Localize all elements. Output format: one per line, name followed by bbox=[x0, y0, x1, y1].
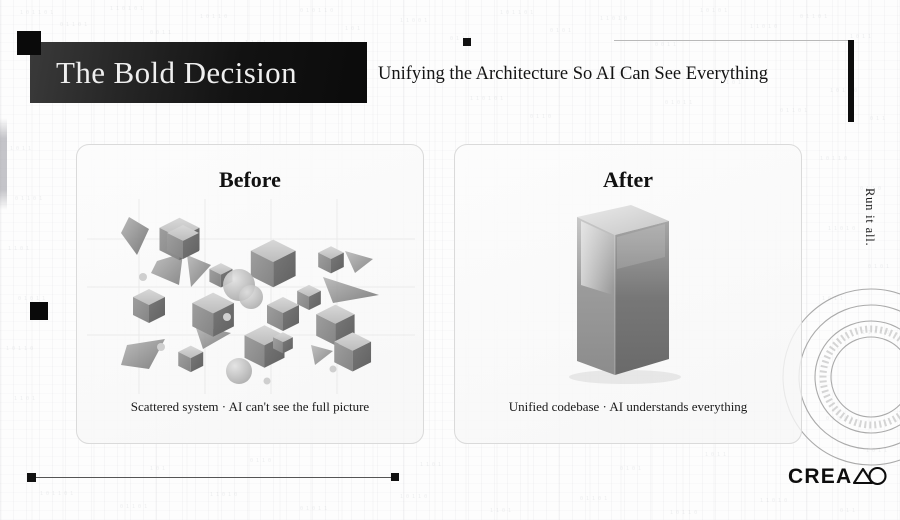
svg-text:0 1 1 0 1: 0 1 1 0 1 bbox=[780, 108, 807, 114]
svg-text:1 0 1 1 0: 1 0 1 1 0 bbox=[6, 346, 33, 352]
svg-text:1 0 1 1 0: 1 0 1 1 0 bbox=[400, 494, 427, 500]
unified-monolith-illustration bbox=[465, 199, 793, 394]
svg-text:0 1 0 1: 0 1 0 1 bbox=[620, 466, 641, 472]
svg-text:0 1 1 0: 0 1 1 0 bbox=[530, 114, 551, 120]
svg-text:1 0 1 1: 1 0 1 1 bbox=[10, 146, 31, 152]
panel-after-caption: Unified codebase · AI understands everyt… bbox=[455, 399, 801, 415]
svg-text:1 1 0 1 0: 1 1 0 1 0 bbox=[760, 498, 787, 504]
title-band: The Bold Decision bbox=[30, 42, 367, 103]
svg-text:0 1 0 1: 0 1 0 1 bbox=[550, 28, 571, 34]
brand-logo: CREA bbox=[788, 463, 889, 489]
page-subtitle: Unifying the Architecture So AI Can See … bbox=[378, 64, 768, 85]
svg-text:0 1 0 1 1: 0 1 0 1 1 bbox=[665, 100, 692, 106]
svg-text:0 1 0 1 1 0: 0 1 0 1 1 0 bbox=[300, 8, 333, 14]
svg-text:1 0 1 1 0: 1 0 1 1 0 bbox=[200, 14, 227, 20]
svg-text:1 1 0 1 0 1: 1 1 0 1 0 1 bbox=[110, 6, 143, 12]
svg-text:1 0 1 1 0 1: 1 0 1 1 0 1 bbox=[500, 10, 533, 16]
svg-text:1 1 0 1: 1 1 0 1 bbox=[14, 396, 35, 402]
svg-text:1 1 0 1 0 1: 1 1 0 1 0 1 bbox=[470, 96, 503, 102]
svg-text:1 1 0 1: 1 1 0 1 bbox=[490, 508, 511, 514]
svg-text:0 1 0 1: 0 1 0 1 bbox=[868, 264, 889, 270]
panel-before: Before bbox=[76, 144, 424, 444]
svg-text:1 0 1 1 0 1: 1 0 1 1 0 1 bbox=[40, 491, 73, 497]
decor-square-top-mid bbox=[463, 38, 471, 46]
svg-text:1 0 1: 1 0 1 bbox=[345, 26, 360, 32]
svg-text:1 0 1 1 0: 1 0 1 1 0 bbox=[670, 510, 697, 516]
svg-text:0 1 1 0: 0 1 1 0 bbox=[250, 458, 271, 464]
svg-text:1 0 1 1 0 1: 1 0 1 1 0 1 bbox=[20, 10, 53, 16]
page-title: The Bold Decision bbox=[30, 55, 297, 91]
panel-after-heading: After bbox=[455, 167, 801, 193]
svg-text:0 1 1: 0 1 1 bbox=[840, 508, 855, 514]
svg-text:1 1 0 1: 1 1 0 1 bbox=[420, 462, 441, 468]
svg-text:0 1 1 0 1: 0 1 1 0 1 bbox=[15, 196, 42, 202]
svg-text:1 0 1 1: 1 0 1 1 bbox=[866, 448, 887, 454]
side-note: Run it all. bbox=[862, 188, 877, 246]
svg-text:1 0 1 1 0: 1 0 1 1 0 bbox=[820, 156, 847, 162]
decor-bar-top-right bbox=[848, 40, 854, 122]
decor-line-bottom bbox=[30, 477, 396, 478]
svg-text:0 1 1 0 1: 0 1 1 0 1 bbox=[580, 496, 607, 502]
svg-text:0 1 0 1 1: 0 1 0 1 1 bbox=[300, 506, 327, 512]
svg-text:1 1 0 1 0: 1 1 0 1 0 bbox=[750, 24, 777, 30]
svg-text:1 1 0 1 0: 1 1 0 1 0 bbox=[862, 330, 889, 336]
decor-square-bottom-left bbox=[27, 473, 36, 482]
svg-text:1 1 0 1 0: 1 1 0 1 0 bbox=[600, 16, 627, 22]
svg-text:1 1 0 0 1: 1 1 0 0 1 bbox=[400, 18, 427, 24]
svg-text:0 0 1 1: 0 0 1 1 bbox=[150, 30, 171, 36]
brand-logo-text: CREA bbox=[788, 466, 852, 487]
svg-text:1 0 1 1: 1 0 1 1 bbox=[705, 452, 726, 458]
corner-marker-top-left bbox=[17, 31, 41, 55]
panel-before-heading: Before bbox=[77, 167, 423, 193]
decor-square-left bbox=[30, 302, 48, 320]
decor-square-bottom-right bbox=[391, 473, 399, 481]
svg-text:0 1 1 0 1: 0 1 1 0 1 bbox=[120, 504, 147, 510]
svg-text:1 0 1 0 1: 1 0 1 0 1 bbox=[700, 8, 727, 14]
svg-text:0 0 1 1: 0 0 1 1 bbox=[655, 42, 676, 48]
svg-text:1 0 1 1: 1 0 1 1 bbox=[822, 296, 843, 302]
triangle-circle-logo-icon bbox=[853, 466, 889, 486]
panel-before-caption: Scattered system · AI can't see the full… bbox=[77, 399, 423, 415]
scattered-cubes-illustration bbox=[87, 199, 415, 394]
left-edge-accent-strip bbox=[0, 118, 7, 210]
svg-text:1 0 1: 1 0 1 bbox=[150, 466, 165, 472]
svg-text:0 1 1 0 1: 0 1 1 0 1 bbox=[800, 14, 827, 20]
svg-text:1 1 0 1 0: 1 1 0 1 0 bbox=[828, 226, 855, 232]
svg-text:0 1 1 0 1: 0 1 1 0 1 bbox=[826, 416, 853, 422]
svg-text:0 1 1: 0 1 1 bbox=[870, 116, 885, 122]
svg-text:1 1 0 1: 1 1 0 1 bbox=[8, 246, 29, 252]
svg-text:0 1 1 0 1: 0 1 1 0 1 bbox=[60, 22, 87, 28]
svg-text:1 1 0 1 0: 1 1 0 1 0 bbox=[210, 492, 237, 498]
slide-canvas: 1 0 1 1 0 10 1 1 0 1 1 1 0 1 0 10 0 1 1 … bbox=[0, 0, 900, 520]
decor-line-top-right bbox=[614, 40, 852, 41]
panel-after: After bbox=[454, 144, 802, 444]
